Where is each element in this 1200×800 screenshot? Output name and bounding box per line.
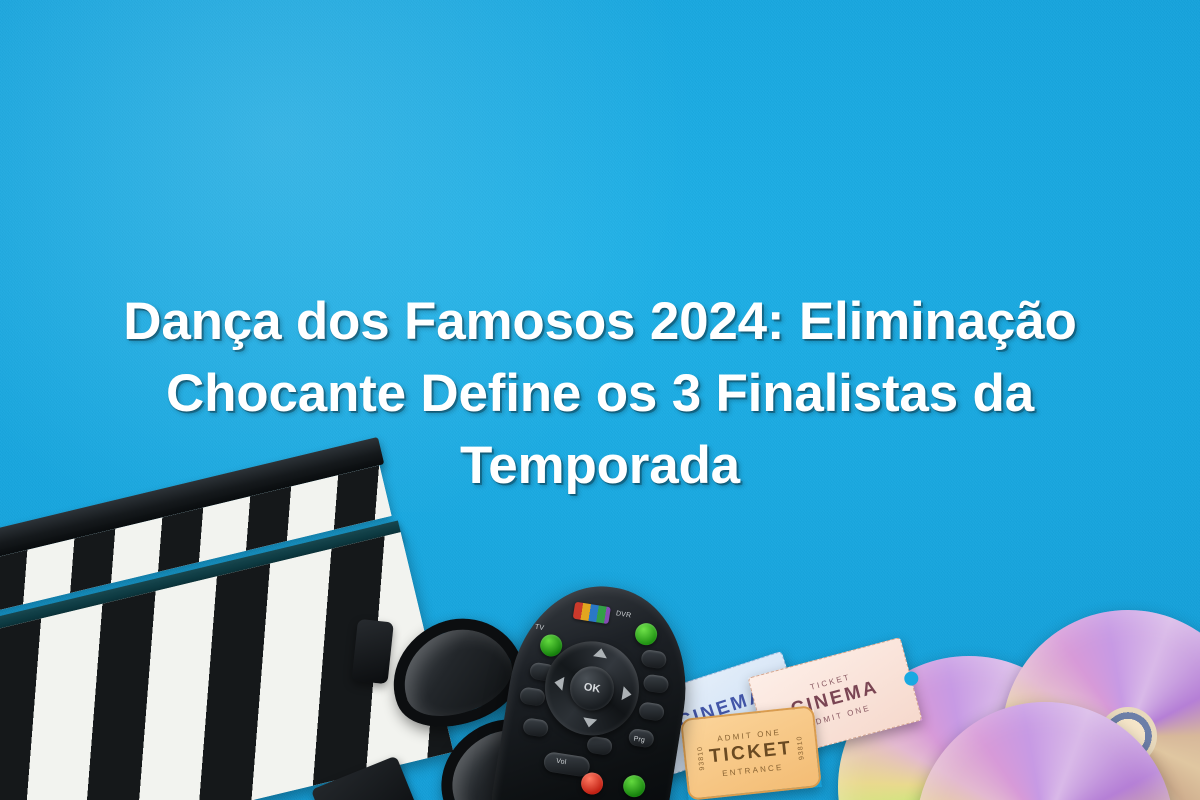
remote-vol-label: Vol (556, 758, 567, 767)
cinema-ticket-orange: ADMIT ONE TICKET ENTRANCE 93810 93810 (680, 705, 822, 800)
headline-container: Dança dos Famosos 2024: Eliminação Choca… (0, 286, 1200, 502)
remote-tv-label: TV (534, 624, 544, 632)
glasses-temple-arm-left (352, 619, 394, 684)
page-title: Dança dos Famosos 2024: Eliminação Choca… (64, 286, 1136, 502)
poster-canvas: DVR TV Prg Vol OK CINEMA ★ ★ ★ ★ ★ (0, 0, 1200, 800)
